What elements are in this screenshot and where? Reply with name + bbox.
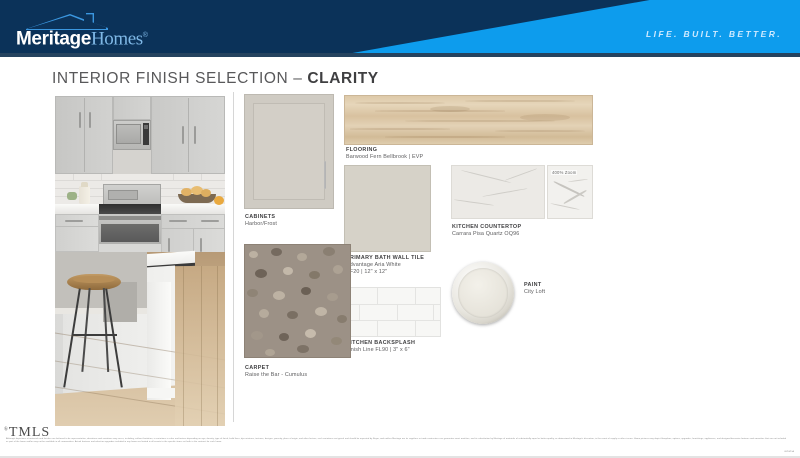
cabinet-pull-icon [324,161,327,189]
page-title-plan: CLARITY [307,70,378,87]
brand-tagline: LIFE. BUILT. BETTER. [646,29,782,39]
label-countertop-title: KITCHEN COUNTERTOP [452,224,521,231]
swatch-paint [452,262,514,324]
header-bottom-rule [0,53,800,57]
label-backsplash-spec: Finish Line FL90 | 3" x 6" [346,347,415,354]
label-paint-title: PAINT [524,282,545,289]
label-bath-tile-spec2: EF20 | 12" x 12" [346,269,424,276]
logo-registered-mark: ® [143,32,148,39]
swatch-kitchen-backsplash [345,288,440,336]
meritage-homes-logo: MeritageHomes® [16,12,206,48]
label-bath-tile-spec: Advantage Aria White [346,262,424,269]
disclaimer-revision-code: 02/18/11A [784,451,794,453]
logo-wordmark: MeritageHomes® [16,26,148,48]
label-backsplash-title: KITCHEN BACKSPLASH [346,340,415,347]
label-paint: PAINT City Loft [524,282,545,296]
label-flooring: FLOORING Barwood Fern Bellbrook | EVP [346,147,423,161]
label-bath-tile-title: PRIMARY BATH WALL TILE [346,255,424,262]
kitchen-photo [55,96,225,426]
swatch-cabinets [245,95,333,208]
label-cabinets-title: CABINETS [245,214,277,221]
cabinet-door-panel [253,103,325,200]
label-carpet-title: CARPET [245,365,307,372]
label-carpet: CARPET Raise the Bar - Cumulus [245,365,307,379]
swatch-primary-bath-wall-tile [345,166,430,251]
swatch-kitchen-countertop [452,166,544,218]
label-kitchen-countertop: KITCHEN COUNTERTOP Carrara Pisa Quartz O… [452,224,521,238]
swatch-carpet [245,245,350,357]
label-flooring-title: FLOORING [346,147,423,154]
label-paint-spec: City Loft [524,289,545,296]
zoom-level-label: 400% Zoom [551,170,577,175]
label-flooring-spec: Barwood Fern Bellbrook | EVP [346,154,423,161]
logo-text-meritage: Meritage [16,28,91,49]
label-kitchen-backsplash: KITCHEN BACKSPLASH Finish Line FL90 | 3"… [346,340,415,354]
vertical-divider [233,92,234,422]
logo-text-homes: Homes [91,28,143,49]
label-primary-bath-wall-tile: PRIMARY BATH WALL TILE Advantage Aria Wh… [346,255,424,277]
legal-disclaimer: Although depictions of materials and fin… [6,438,786,445]
page-header: MeritageHomes® LIFE. BUILT. BETTER. [0,0,800,57]
swatch-flooring [345,96,592,144]
label-countertop-spec: Carrara Pisa Quartz OQ96 [452,231,521,238]
label-cabinets-spec: Harbor/Frost [245,221,277,228]
page-title: INTERIOR FINISH SELECTION – CLARITY [52,70,379,88]
paint-lid-inner [458,268,508,318]
swatch-kitchen-countertop-zoom: 400% Zoom [548,166,592,218]
label-carpet-spec: Raise the Bar - Cumulus [245,372,307,379]
page-title-prefix: INTERIOR FINISH SELECTION – [52,70,307,87]
label-cabinets: CABINETS Harbor/Frost [245,214,277,228]
